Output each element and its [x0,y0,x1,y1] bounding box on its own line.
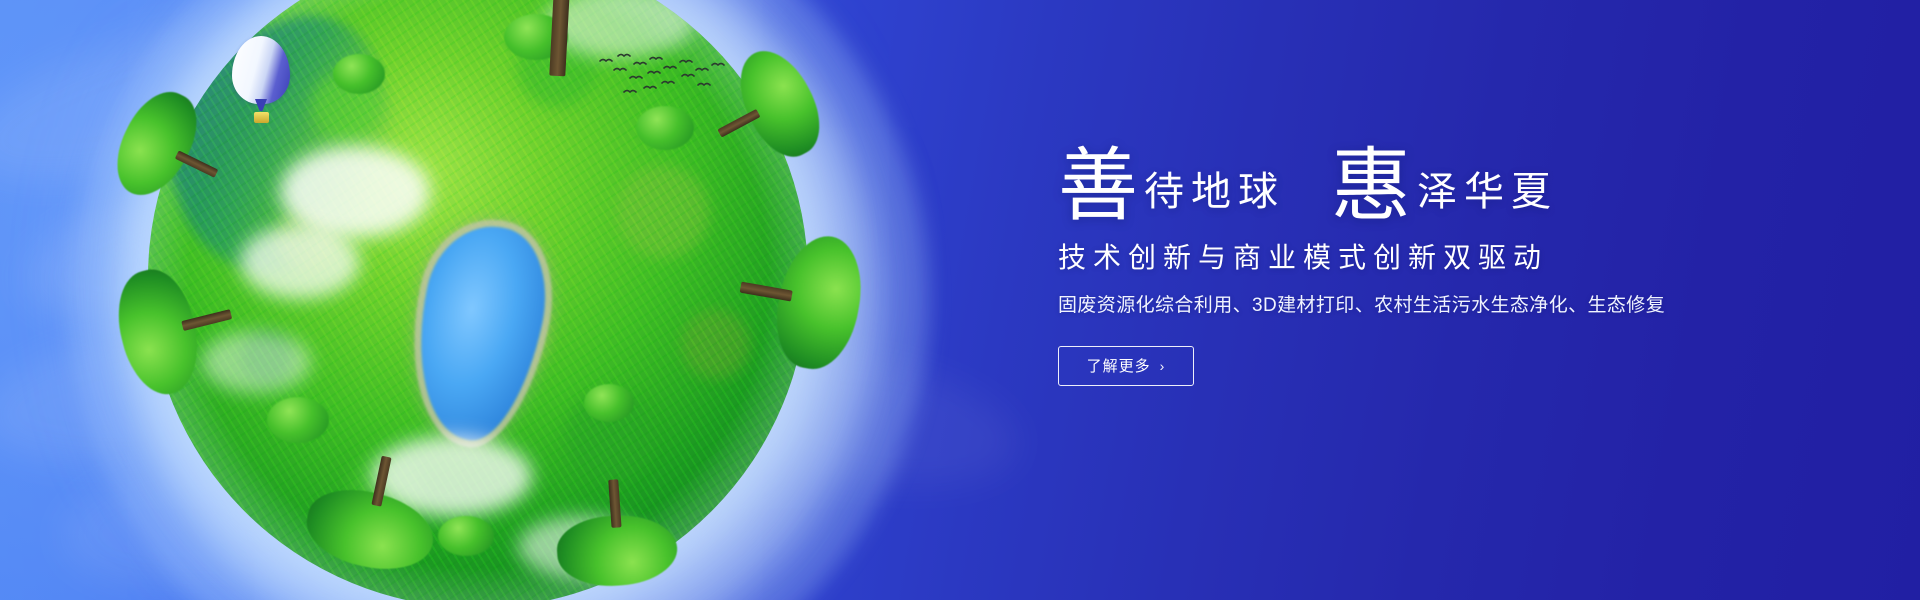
shrub-icon [584,384,634,422]
hero-banner: 善 待地球 惠 泽华夏 技术创新与商业模式创新双驱动 固废资源化综合利用、3D建… [0,0,1920,600]
subtitle: 技术创新与商业模式创新双驱动 [1058,240,1758,275]
cloud-icon [240,225,360,299]
page-title: 善 待地球 惠 泽华夏 [1058,140,1758,224]
headline-lead-char-2: 惠 [1331,148,1411,224]
shrub-icon [267,397,329,443]
headline-segment-2: 惠 泽华夏 [1331,140,1558,216]
headline-lead-char-1: 善 [1058,148,1138,224]
bird-flock-icon [596,52,726,98]
chevron-right-icon: › [1160,359,1166,373]
headline-rest-1: 待地球 [1144,172,1285,212]
hero-content: 善 待地球 惠 泽华夏 技术创新与商业模式创新双驱动 固废资源化综合利用、3D建… [1058,140,1758,386]
headline-rest-2: 泽华夏 [1417,172,1558,212]
shrub-icon [438,516,494,556]
learn-more-label: 了解更多 [1087,355,1151,376]
tree-icon [541,478,680,591]
headline-segment-1: 善 待地球 [1058,140,1285,216]
description: 固废资源化综合利用、3D建材打印、农村生活污水生态净化、生态修复 [1058,293,1758,320]
hot-air-balloon-icon [232,36,290,128]
cloud-icon [280,146,430,238]
shrub-icon [333,54,385,94]
learn-more-button[interactable]: 了解更多 › [1058,346,1194,386]
